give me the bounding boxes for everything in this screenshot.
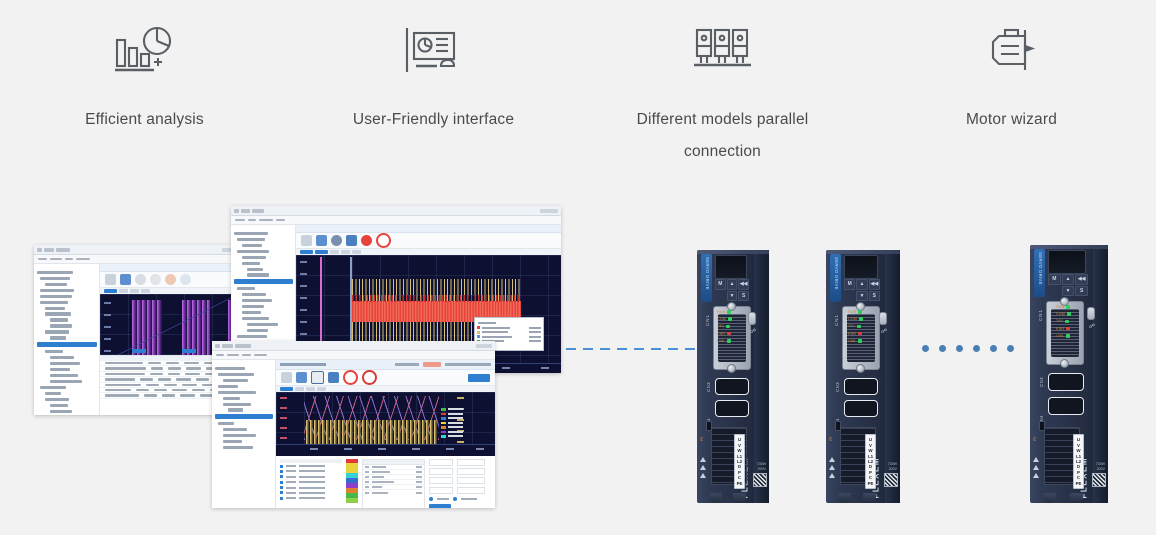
terminal-labels: UVWL1L2DPCPE (1073, 434, 1084, 489)
feature-user-friendly-interface[interactable]: User-Friendly interface (289, 0, 578, 175)
menu-hint (222, 344, 233, 348)
record-button-icon[interactable] (361, 235, 372, 246)
usb-icon: ☍ (881, 328, 887, 335)
connection-dot (939, 345, 946, 352)
key-blank (1048, 286, 1061, 297)
feature-caption: Efficient analysis (85, 104, 204, 136)
dashed-connection-line (566, 348, 701, 350)
settings-panel[interactable] (429, 459, 491, 509)
drive-display-screen (1048, 250, 1086, 274)
key-set[interactable]: S (738, 291, 749, 302)
color-swatch-column[interactable] (346, 459, 358, 509)
channel-list[interactable] (280, 459, 342, 509)
key-left[interactable]: ◀◀ (1075, 274, 1088, 285)
earth-screw (835, 421, 841, 431)
drive-series-label: SERVO DRIVE (1034, 249, 1045, 297)
confirm-button[interactable] (429, 504, 451, 508)
model-text: 730W200V (1096, 462, 1105, 471)
y-axis-left (276, 392, 292, 444)
tab[interactable] (317, 387, 326, 391)
pane-title (100, 264, 239, 272)
cn3-port[interactable] (1048, 373, 1084, 391)
led-run: RUN (717, 310, 739, 314)
tab[interactable] (352, 250, 361, 254)
parallel-drives-icon (692, 14, 754, 86)
terminal-labels: UVWL1L2DPCPE (734, 434, 745, 489)
led-24v: 24V (1056, 319, 1078, 323)
feature-row: Efficient analysis User-Friendly interfa… (0, 0, 1156, 175)
led-lnk: LNK (717, 339, 739, 343)
menu-hint (252, 209, 264, 213)
led-err: ERR (1056, 327, 1078, 331)
tab[interactable] (306, 387, 315, 391)
window-icon (215, 344, 220, 348)
window-icon (37, 248, 42, 252)
clock-tool-icon[interactable] (331, 235, 342, 246)
cursor-marker[interactable] (132, 349, 146, 353)
key-down[interactable]: ▼ (727, 291, 738, 302)
usb-icon: ☍ (750, 328, 756, 335)
feature-caption: Motor wizard (966, 104, 1057, 136)
link-tool-icon[interactable] (328, 372, 339, 383)
clock-tool-icon[interactable] (135, 274, 146, 285)
pane-title (276, 360, 495, 370)
bar-chart-pie-plus-icon (114, 14, 176, 86)
led-24v: 24V (717, 324, 739, 328)
earth-screw (706, 421, 712, 431)
window-titlebar[interactable] (34, 245, 239, 255)
drive-series-label: SERVO DRIVE (830, 254, 841, 302)
connector-screw (856, 364, 865, 373)
window-controls[interactable] (540, 209, 558, 213)
dotted-connection-line (922, 344, 1014, 352)
key-set[interactable]: S (869, 291, 880, 302)
warning-icons (1033, 457, 1039, 481)
radio-option[interactable] (453, 497, 457, 501)
model-text: 730W200V (888, 462, 897, 471)
parameter-tree[interactable] (34, 264, 100, 415)
pane-title (296, 225, 561, 233)
tree-item-selected[interactable] (37, 342, 97, 347)
measure-tool-icon[interactable] (120, 274, 131, 285)
condition-table[interactable] (362, 459, 425, 509)
led-err: ERR (848, 332, 870, 336)
feature-efficient-analysis[interactable]: Efficient analysis (0, 0, 289, 175)
earth-screw (1039, 421, 1045, 431)
feature-caption: Different models parallel connection (618, 104, 828, 168)
y-axis (100, 294, 116, 355)
chart-pane (276, 360, 495, 508)
window-icon (234, 209, 239, 213)
key-down[interactable]: ▼ (1062, 286, 1075, 297)
drive-mounting-feet (1036, 491, 1090, 503)
cn4-port[interactable] (844, 400, 878, 417)
pencil-tool-icon[interactable] (281, 372, 292, 383)
window-body (34, 264, 239, 415)
key-left[interactable]: ◀◀ (738, 279, 749, 290)
x-axis (276, 444, 495, 456)
cn4-port[interactable] (715, 400, 749, 417)
drive-keypad[interactable]: M ▲ ◀◀ ▼ S (715, 279, 749, 301)
led-lnk: LNK (848, 339, 870, 343)
page-root: Efficient analysis User-Friendly interfa… (0, 0, 1156, 535)
tab[interactable] (119, 289, 128, 293)
usb-icon: ☍ (1089, 323, 1095, 330)
key-mode[interactable]: M (715, 279, 726, 290)
grid-tool-icon[interactable] (346, 235, 357, 246)
measure-tool-icon[interactable] (296, 372, 307, 383)
earth-label: PE (1033, 436, 1037, 441)
led-lnk: LNK (1056, 334, 1078, 338)
connection-dot (1007, 345, 1014, 352)
menu-hint (56, 248, 70, 252)
drive-led-panel: RUN COM 24V ERR LNK (717, 310, 739, 346)
stop-button-icon[interactable] (376, 233, 391, 248)
tab-active[interactable] (280, 387, 293, 391)
tab[interactable] (141, 289, 150, 293)
key-up[interactable]: ▲ (1062, 274, 1075, 285)
waveform-band-top (352, 295, 521, 302)
drive-mounting-feet (832, 491, 882, 503)
earth-label: PE (829, 436, 833, 441)
cn3-label: CN3 (835, 382, 840, 392)
window-body (212, 360, 495, 508)
drive-keypad[interactable]: M ▲ ◀◀ ▼ S (1048, 274, 1088, 296)
record-button-icon[interactable] (165, 274, 176, 285)
cn4-port[interactable] (1048, 397, 1084, 415)
menu-hint (235, 344, 251, 348)
tree-item-selected[interactable] (215, 414, 273, 419)
chart-toolbar[interactable] (276, 370, 495, 386)
warning-icons (700, 457, 706, 481)
connection-dot (973, 345, 980, 352)
led-com: COM (717, 317, 739, 321)
cursor-marker[interactable] (182, 349, 196, 353)
servo-tuning-window-front[interactable] (212, 341, 495, 508)
key-up[interactable]: ▲ (856, 279, 867, 290)
window-titlebar[interactable] (231, 206, 561, 216)
drive-led-panel: RUN COM 24V ERR LNK (848, 310, 870, 346)
chart-legend (441, 408, 465, 438)
key-up[interactable]: ▲ (727, 279, 738, 290)
apply-button[interactable] (468, 374, 490, 382)
feature-motor-wizard[interactable]: Motor wizard (867, 0, 1156, 175)
tab[interactable] (341, 250, 350, 254)
led-run: RUN (848, 310, 870, 314)
led-24v: 24V (848, 324, 870, 328)
key-mode[interactable]: M (844, 279, 855, 290)
servo-drive-unit[interactable]: SERVO DRIVE M ▲ ◀◀ ▼ S CN1 RUN COM 24V E… (1030, 245, 1108, 503)
connection-dot (990, 345, 997, 352)
drive-keypad[interactable]: M ▲ ◀◀ ▼ S (844, 279, 880, 301)
channel-config-area[interactable] (276, 456, 495, 509)
pencil-tool-icon[interactable] (105, 274, 116, 285)
tab-active[interactable] (315, 250, 328, 254)
model-text: 730W200V (757, 462, 766, 471)
servo-drive-unit[interactable]: SERVO DRIVE M ▲ ◀◀ ▼ S CN1 RUN COM 24V E… (826, 250, 900, 503)
cn3-port[interactable] (844, 378, 878, 395)
cn3-label: CN3 (706, 382, 711, 392)
cn1-label: CN1 (1038, 309, 1043, 321)
monitor-dashboard-icon (403, 14, 465, 86)
waveform-plot[interactable] (276, 392, 495, 444)
drive-display-screen (715, 255, 747, 279)
stop-button-icon[interactable] (180, 274, 191, 285)
connection-dot (956, 345, 963, 352)
stop-button-icon[interactable] (362, 370, 377, 385)
chart-toolbar[interactable] (296, 233, 561, 249)
window-menubar[interactable] (34, 255, 239, 264)
drive-led-panel: RUN COM 24V ERR LNK (1056, 305, 1078, 341)
measure-tool-icon[interactable] (316, 235, 327, 246)
connection-dot (922, 345, 929, 352)
window-titlebar[interactable] (212, 341, 495, 351)
qr-code (753, 473, 767, 487)
qr-code (1092, 473, 1106, 487)
key-left[interactable]: ◀◀ (869, 279, 880, 290)
led-com: COM (848, 317, 870, 321)
tab[interactable] (130, 289, 139, 293)
cn3-port[interactable] (715, 378, 749, 395)
key-blank (844, 291, 855, 302)
record-button-icon[interactable] (343, 370, 358, 385)
tab[interactable] (295, 387, 304, 391)
scope-tool-icon[interactable] (150, 274, 161, 285)
cn1-label: CN1 (834, 314, 839, 326)
key-set[interactable]: S (1075, 286, 1088, 297)
terminal-labels: UVWL1L2DPCPE (865, 434, 876, 489)
drive-series-label: SERVO DRIVE (701, 254, 712, 302)
window-menubar[interactable] (212, 351, 495, 360)
menu-hint (44, 248, 54, 252)
chart-toolbar[interactable] (100, 272, 239, 288)
led-run: RUN (1056, 305, 1078, 309)
drive-mounting-feet (703, 491, 751, 503)
key-mode[interactable]: M (1048, 274, 1061, 285)
warning-icons (829, 457, 835, 481)
tab-active[interactable] (300, 250, 313, 254)
servo-drive-unit[interactable]: SERVO DRIVE M ▲ ◀◀ ▼ S CN1 RUN COM 24V E… (697, 250, 769, 503)
tab[interactable] (330, 250, 339, 254)
feature-caption: User-Friendly interface (353, 104, 514, 136)
screen-tool-icon[interactable] (311, 371, 324, 384)
connector-screw (727, 364, 736, 373)
waveform-center-band (306, 420, 437, 444)
servo-tuning-window-left[interactable] (34, 245, 239, 415)
feature-parallel-connection[interactable]: Different models parallel connection (578, 0, 867, 175)
connector-screw (1060, 359, 1069, 368)
tab-active[interactable] (104, 289, 117, 293)
window-controls[interactable] (476, 344, 492, 348)
window-menubar[interactable] (231, 216, 561, 225)
parameter-tree[interactable] (212, 360, 276, 508)
key-down[interactable]: ▼ (856, 291, 867, 302)
usb-port[interactable] (1087, 307, 1095, 320)
key-blank (715, 291, 726, 302)
usb-port[interactable] (879, 312, 887, 325)
led-err: ERR (717, 332, 739, 336)
cn3-label: CN3 (1039, 377, 1044, 387)
qr-code (884, 473, 898, 487)
cn1-label: CN1 (705, 314, 710, 326)
pencil-tool-icon[interactable] (301, 235, 312, 246)
earth-label: PE (700, 436, 704, 441)
tree-item-selected[interactable] (234, 279, 293, 284)
radio-option[interactable] (429, 497, 433, 501)
usb-port[interactable] (748, 312, 756, 325)
drive-display-screen (844, 255, 878, 279)
led-com: COM (1056, 312, 1078, 316)
motor-icon (981, 14, 1043, 86)
menu-hint (241, 209, 250, 213)
